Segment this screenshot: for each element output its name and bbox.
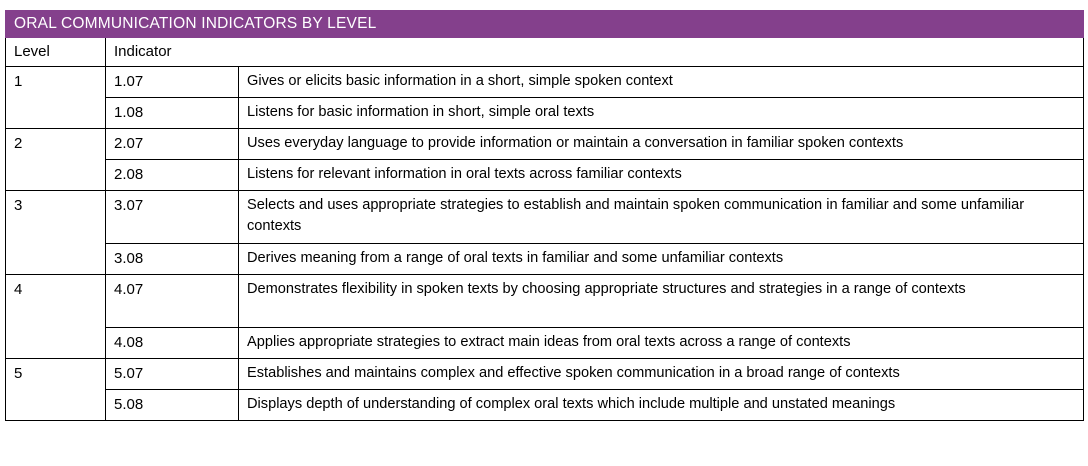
table-row: 5 5.07 Establishes and maintains complex… [6,359,1084,390]
indicator-description: Establishes and maintains complex and ef… [239,359,1083,388]
page-root: ORAL COMMUNICATION INDICATORS BY LEVEL L… [0,0,1088,466]
oral-communication-indicators-table: ORAL COMMUNICATION INDICATORS BY LEVEL L… [5,10,1084,421]
indicator-description: Listens for basic information in short, … [239,98,1083,127]
indicator-code: 4.08 [106,328,238,357]
indicator-cell: 2.08 [106,160,239,191]
table-row: 5.08 Displays depth of understanding of … [6,390,1084,421]
table-banner-cell: ORAL COMMUNICATION INDICATORS BY LEVEL [6,11,1084,38]
table-row: 3 3.07 Selects and uses appropriate stra… [6,191,1084,244]
description-cell: Demonstrates flexibility in spoken texts… [239,275,1084,328]
indicator-code: 2.08 [106,160,238,189]
level-value: 3 [6,191,105,220]
table-row: 4.08 Applies appropriate strategies to e… [6,328,1084,359]
indicator-cell: 5.08 [106,390,239,421]
description-cell: Uses everyday language to provide inform… [239,129,1084,160]
indicator-cell: 5.07 [106,359,239,390]
indicator-table-container: ORAL COMMUNICATION INDICATORS BY LEVEL L… [5,10,1083,421]
level-cell: 5 [6,359,106,421]
indicator-description: Demonstrates flexibility in spoken texts… [239,275,1083,304]
indicator-code: 4.07 [106,275,238,304]
description-cell: Displays depth of understanding of compl… [239,390,1084,421]
level-cell: 3 [6,191,106,275]
level-value: 5 [6,359,105,388]
table-header-row: Level Indicator [6,38,1084,67]
indicator-code: 5.08 [106,390,238,419]
indicator-description: Uses everyday language to provide inform… [239,129,1083,158]
column-header-level-label: Level [6,43,105,61]
indicator-code: 1.08 [106,98,238,127]
column-header-indicator-label: Indicator [106,43,1083,61]
table-row: 3.08 Derives meaning from a range of ora… [6,244,1084,275]
table-row: 1.08 Listens for basic information in sh… [6,98,1084,129]
indicator-code: 3.08 [106,244,238,273]
description-cell: Applies appropriate strategies to extrac… [239,328,1084,359]
description-cell: Listens for relevant information in oral… [239,160,1084,191]
description-cell: Selects and uses appropriate strategies … [239,191,1084,244]
table-body: ORAL COMMUNICATION INDICATORS BY LEVEL L… [6,11,1084,421]
indicator-cell: 3.08 [106,244,239,275]
table-row: 2.08 Listens for relevant information in… [6,160,1084,191]
indicator-cell: 3.07 [106,191,239,244]
indicator-code: 5.07 [106,359,238,388]
column-header-indicator: Indicator [106,38,1084,67]
indicator-code: 1.07 [106,67,238,96]
description-cell: Establishes and maintains complex and ef… [239,359,1084,390]
indicator-cell: 2.07 [106,129,239,160]
level-value: 4 [6,275,105,304]
indicator-description: Listens for relevant information in oral… [239,160,1083,189]
indicator-description: Derives meaning from a range of oral tex… [239,244,1083,273]
table-row: 4 4.07 Demonstrates flexibility in spoke… [6,275,1084,328]
level-value: 2 [6,129,105,158]
indicator-description: Gives or elicits basic information in a … [239,67,1083,96]
indicator-description: Applies appropriate strategies to extrac… [239,328,1083,357]
indicator-cell: 4.08 [106,328,239,359]
table-banner-row: ORAL COMMUNICATION INDICATORS BY LEVEL [6,11,1084,38]
indicator-code: 3.07 [106,191,238,220]
description-cell: Gives or elicits basic information in a … [239,67,1084,98]
indicator-cell: 1.07 [106,67,239,98]
table-row: 2 2.07 Uses everyday language to provide… [6,129,1084,160]
indicator-code: 2.07 [106,129,238,158]
indicator-description: Displays depth of understanding of compl… [239,390,1083,419]
indicator-cell: 1.08 [106,98,239,129]
level-cell: 2 [6,129,106,191]
description-cell: Listens for basic information in short, … [239,98,1084,129]
column-header-level: Level [6,38,106,67]
level-value: 1 [6,67,105,96]
page-title: ORAL COMMUNICATION INDICATORS BY LEVEL [14,15,376,32]
table-row: 1 1.07 Gives or elicits basic informatio… [6,67,1084,98]
description-cell: Derives meaning from a range of oral tex… [239,244,1084,275]
indicator-cell: 4.07 [106,275,239,328]
level-cell: 1 [6,67,106,129]
level-cell: 4 [6,275,106,359]
indicator-description: Selects and uses appropriate strategies … [239,191,1083,241]
